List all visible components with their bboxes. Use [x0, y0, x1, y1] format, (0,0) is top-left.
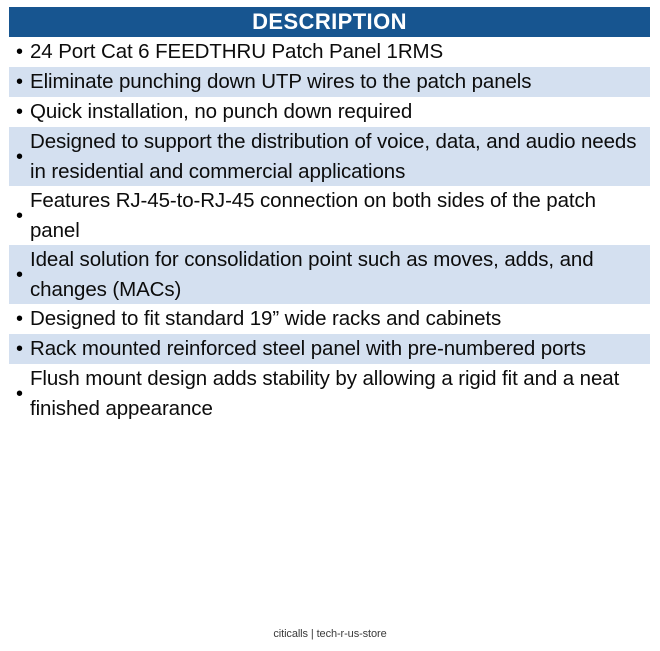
feature-bullet-list: •24 Port Cat 6 FEEDTHRU Patch Panel 1RMS… [9, 37, 650, 423]
list-item-label: Eliminate punching down UTP wires to the… [30, 67, 650, 97]
list-item: •Quick installation, no punch down requi… [9, 97, 650, 127]
list-item: •Designed to support the distribution of… [9, 127, 650, 186]
list-item: •Features RJ-45-to-RJ-45 connection on b… [9, 186, 650, 245]
list-item: •Flush mount design adds stability by al… [9, 364, 650, 423]
bullet-icon: • [9, 72, 30, 92]
list-item-label: Designed to support the distribution of … [30, 127, 650, 186]
list-item: •Rack mounted reinforced steel panel wit… [9, 334, 650, 364]
bullet-icon: • [9, 147, 30, 167]
bullet-icon: • [9, 309, 30, 329]
footer-credit: citicalls | tech-r-us-store [0, 628, 660, 640]
list-item: •Ideal solution for consolidation point … [9, 245, 650, 304]
list-item: •24 Port Cat 6 FEEDTHRU Patch Panel 1RMS [9, 37, 650, 67]
list-item: •Eliminate punching down UTP wires to th… [9, 67, 650, 97]
page-title: DESCRIPTION [252, 11, 407, 33]
list-item-label: Flush mount design adds stability by all… [30, 364, 650, 423]
list-item-label: Ideal solution for consolidation point s… [30, 245, 650, 304]
list-item: •Designed to fit standard 19” wide racks… [9, 304, 650, 334]
bullet-icon: • [9, 206, 30, 226]
list-item-label: Designed to fit standard 19” wide racks … [30, 304, 650, 334]
description-header-banner: DESCRIPTION [9, 7, 650, 37]
bullet-icon: • [9, 339, 30, 359]
list-item-label: Features RJ-45-to-RJ-45 connection on bo… [30, 186, 650, 245]
bullet-icon: • [9, 42, 30, 62]
bullet-icon: • [9, 265, 30, 285]
list-item-label: 24 Port Cat 6 FEEDTHRU Patch Panel 1RMS [30, 37, 650, 67]
product-description-page: DESCRIPTION •24 Port Cat 6 FEEDTHRU Patc… [0, 0, 660, 651]
list-item-label: Quick installation, no punch down requir… [30, 97, 650, 127]
bullet-icon: • [9, 102, 30, 122]
bullet-icon: • [9, 384, 30, 404]
list-item-label: Rack mounted reinforced steel panel with… [30, 334, 650, 364]
